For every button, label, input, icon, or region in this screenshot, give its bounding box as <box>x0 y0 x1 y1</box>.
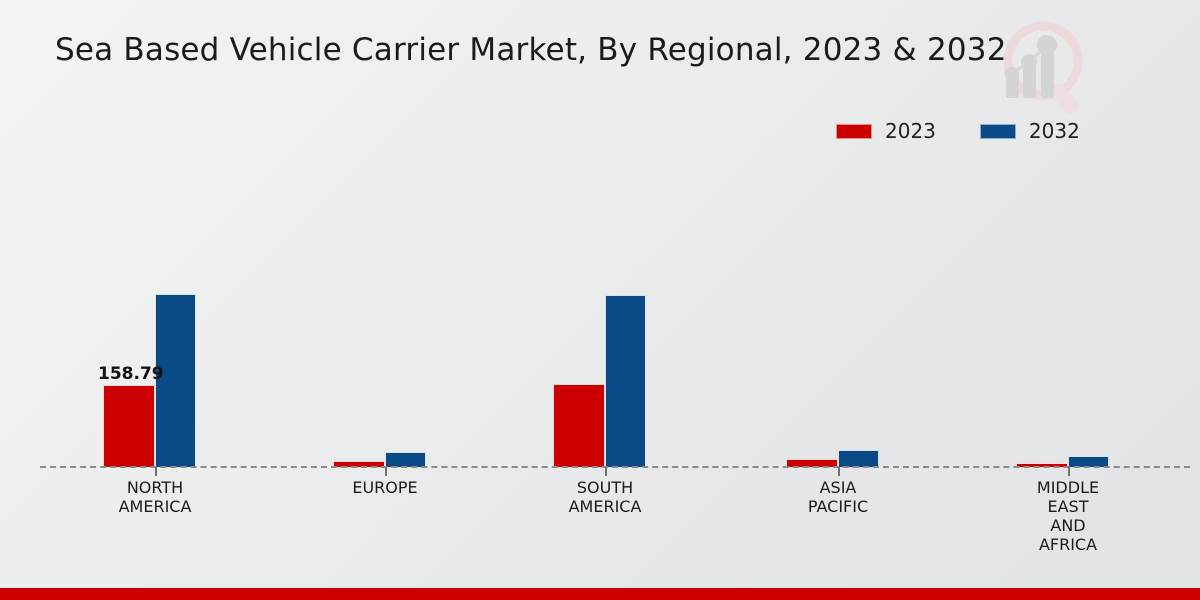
category-label-line: MIDDLE <box>978 478 1158 497</box>
x-axis-tick <box>155 467 157 476</box>
x-axis-category-label: SOUTHAMERICA <box>515 478 695 516</box>
footer-accent-bar <box>0 588 1200 600</box>
plot-area <box>40 160 1190 467</box>
bar-group <box>786 450 879 467</box>
legend-label-2023: 2023 <box>885 121 936 141</box>
chart-title: Sea Based Vehicle Carrier Market, By Reg… <box>55 32 1007 68</box>
watermark-logo-icon <box>995 14 1105 114</box>
category-label-line: AMERICA <box>65 497 245 516</box>
x-axis-category-label: MIDDLEEASTANDAFRICA <box>978 478 1158 554</box>
legend-item-2023[interactable]: 2023 <box>836 121 936 141</box>
x-axis-tick <box>385 467 387 476</box>
bar-2023[interactable] <box>103 385 155 467</box>
category-label-line: AND <box>978 516 1158 535</box>
legend-swatch-2023 <box>836 124 872 139</box>
category-label-line: EUROPE <box>295 478 475 497</box>
category-label-line: SOUTH <box>515 478 695 497</box>
bar-value-label: 158.79 <box>98 364 164 384</box>
category-label-line: PACIFIC <box>748 497 928 516</box>
category-label-line: ASIA <box>748 478 928 497</box>
bar-2032[interactable] <box>605 295 646 467</box>
bar-2032[interactable] <box>838 450 879 467</box>
x-axis-tick <box>1068 467 1070 476</box>
chart-container: Sea Based Vehicle Carrier Market, By Reg… <box>0 0 1200 600</box>
legend-swatch-2032 <box>980 124 1016 139</box>
category-label-line: AFRICA <box>978 535 1158 554</box>
x-axis-category-label: ASIAPACIFIC <box>748 478 928 516</box>
category-label-line: EAST <box>978 497 1158 516</box>
category-label-line: AMERICA <box>515 497 695 516</box>
x-axis-tick <box>838 467 840 476</box>
category-label-line: NORTH <box>65 478 245 497</box>
bar-group <box>553 295 646 467</box>
bar-2032[interactable] <box>385 452 426 467</box>
legend-item-2032[interactable]: 2032 <box>980 121 1080 141</box>
legend-label-2032: 2032 <box>1029 121 1080 141</box>
x-axis-tick <box>605 467 607 476</box>
bar-2023[interactable] <box>553 384 605 467</box>
x-axis-category-label: EUROPE <box>295 478 475 497</box>
x-axis-baseline <box>40 466 1190 468</box>
chart-legend: 2023 2032 <box>836 121 1080 141</box>
x-axis-category-label: NORTHAMERICA <box>65 478 245 516</box>
bar-group <box>333 452 426 467</box>
